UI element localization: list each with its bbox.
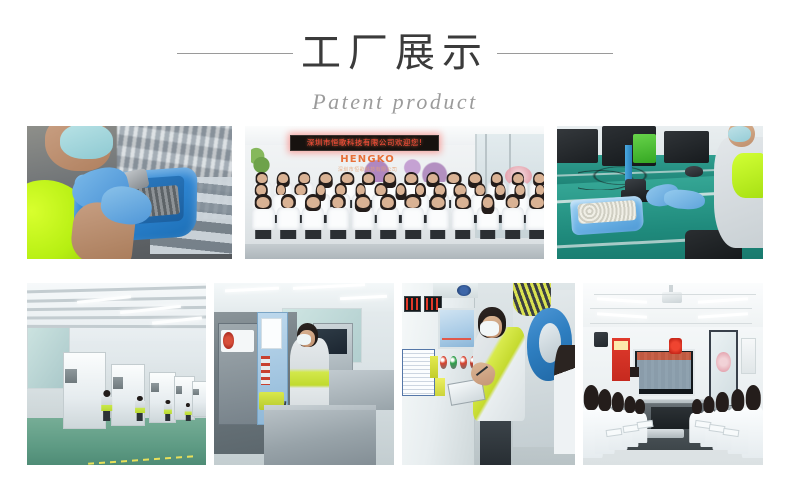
group-member: [301, 194, 325, 239]
attendee-head: [692, 399, 702, 414]
tray-contents: [577, 200, 636, 224]
photo-scene: [27, 283, 206, 465]
operator-mask: [297, 334, 311, 345]
member-head: [333, 197, 344, 208]
group-member: [326, 194, 350, 239]
indicator-lamp[interactable]: [450, 356, 457, 369]
ceiling-panel-edge: [594, 294, 756, 295]
ceiling-panel-edge: [590, 323, 752, 324]
member-head: [482, 197, 492, 208]
page-subtitle: Patent product: [0, 89, 790, 115]
member-head: [470, 174, 481, 182]
worker-trousers: [186, 415, 190, 422]
worker-uniform: [101, 397, 113, 412]
poster-headline: [614, 341, 628, 350]
engineer-mask: [480, 321, 499, 336]
worker-uniform: [163, 404, 171, 414]
photo-cnc-machining[interactable]: [214, 283, 394, 465]
member-head: [513, 174, 523, 182]
attendee-head: [716, 392, 728, 412]
member-head: [448, 174, 460, 182]
hmi-touchscreen: [438, 308, 476, 348]
notice-board: [741, 338, 755, 374]
line-worker: [134, 396, 145, 421]
panel-document: [261, 318, 283, 349]
ceiling-beam: [27, 325, 206, 328]
photo-process-recording[interactable]: [402, 283, 575, 465]
member-shirt: [501, 207, 523, 231]
group-member: [476, 194, 500, 239]
member-head: [507, 197, 518, 208]
machine-vent: [176, 386, 182, 394]
machine-logo-icon: [223, 332, 234, 348]
background-person: [554, 345, 575, 454]
gallery-row-2: [27, 283, 763, 465]
display-digits-1: [406, 298, 419, 310]
member-head: [357, 197, 370, 208]
engineer-legs: [480, 421, 511, 465]
member-head: [456, 197, 469, 208]
worker-head: [103, 390, 110, 397]
indicator-lamp[interactable]: [460, 356, 467, 369]
member-head: [406, 197, 419, 208]
group-member: [351, 194, 375, 239]
member-shirt: [452, 207, 474, 231]
operator-sleeve: [732, 153, 763, 198]
member-head: [382, 197, 394, 208]
indicator-lamp[interactable]: [440, 356, 447, 369]
group-member: [501, 194, 525, 239]
photo-packaging-inspection[interactable]: [27, 126, 232, 259]
member-head: [492, 174, 502, 182]
page-header: 工厂展示 Patent product: [0, 0, 790, 115]
line-worker: [100, 390, 113, 421]
digital-display-1: [404, 296, 421, 312]
title-rule-right: [497, 53, 613, 54]
attendee-head: [731, 389, 744, 411]
member-head: [431, 197, 444, 208]
member-shirt: [377, 207, 399, 231]
valve-handle: [457, 285, 471, 296]
processing-machine: [63, 352, 106, 428]
machine-vent: [65, 369, 78, 383]
member-shirt: [327, 207, 349, 231]
photo-company-group[interactable]: 深圳市恒歌科技有限公司欢迎您! HENGKO 深圳市恒歌科技有限公司: [245, 126, 544, 259]
member-head: [531, 197, 543, 208]
worker-uniform: [185, 407, 192, 416]
member-head: [385, 174, 396, 182]
worker-trousers: [136, 412, 143, 421]
group-member: [451, 194, 475, 239]
machine-vent: [113, 377, 123, 388]
group-member: [276, 194, 300, 239]
machine-vent: [151, 383, 159, 392]
hazard-label-2: [435, 378, 445, 396]
member-head: [283, 197, 294, 208]
attendee-head: [635, 399, 645, 414]
member-shirt: [402, 207, 424, 231]
table-cable-tray: [651, 407, 694, 429]
member-head: [307, 197, 320, 208]
door-decal: [716, 352, 730, 372]
photo-scene: [27, 126, 232, 259]
photo-scene: [214, 283, 394, 465]
notebook: [723, 428, 740, 437]
member-head: [257, 197, 270, 208]
gallery-row-1: 深圳市恒歌科技有限公司欢迎您! HENGKO 深圳市恒歌科技有限公司: [27, 126, 763, 259]
worker-trousers: [103, 410, 111, 421]
member-shirt: [277, 207, 299, 231]
title-row: 工厂展示: [0, 26, 790, 80]
ceiling-panel-edge: [590, 308, 752, 309]
worker-head: [137, 396, 143, 402]
factory-showcase-page: 工厂展示 Patent product: [0, 0, 790, 493]
group-member: [252, 194, 276, 239]
photo-production-line[interactable]: [27, 283, 206, 465]
wall-badge: [669, 338, 682, 354]
employee-group: [245, 150, 544, 248]
hazard-label-1: [430, 356, 439, 378]
member-shirt: [252, 207, 274, 231]
processing-machine: [192, 381, 206, 417]
photo-scene: 深圳市恒歌科技有限公司欢迎您! HENGKO 深圳市恒歌科技有限公司: [245, 126, 544, 259]
operator-mask: [728, 126, 751, 142]
member-shirt: [427, 207, 449, 231]
keyboard: [644, 429, 684, 438]
page-title: 工厂展示: [299, 30, 491, 76]
metal-crate: [264, 410, 376, 465]
member-shirt: [526, 207, 544, 231]
worker-trousers: [165, 413, 171, 421]
photo-meeting-room[interactable]: [583, 283, 763, 465]
led-banner-text: 深圳市恒歌科技有限公司欢迎您!: [307, 139, 423, 147]
display-content: [637, 352, 691, 388]
monitor-1: [557, 129, 598, 164]
group-member: [376, 194, 400, 239]
line-worker: [185, 403, 192, 421]
photo-scene: [583, 283, 763, 465]
photo-scene: [402, 283, 575, 465]
microscope-camera: [633, 134, 656, 163]
computer-mouse: [685, 166, 704, 177]
hmi-status-bar: [442, 338, 471, 340]
image-gallery: 深圳市恒歌科技有限公司欢迎您! HENGKO 深圳市恒歌科技有限公司: [27, 126, 763, 465]
worker-head: [165, 400, 170, 405]
group-member: [401, 194, 425, 239]
group-member: [426, 194, 450, 239]
panel-buttons: [261, 356, 270, 385]
line-worker: [163, 400, 172, 422]
monitor-3: [664, 131, 709, 163]
photo-microscope-inspection[interactable]: [557, 126, 763, 259]
group-member: [526, 194, 544, 239]
worker-uniform: [135, 401, 145, 413]
led-welcome-banner: 深圳市恒歌科技有限公司欢迎您!: [290, 135, 440, 151]
photo-scene: [557, 126, 763, 259]
presenter: [630, 367, 639, 396]
machine-vent: [193, 389, 198, 396]
face-mask: [60, 126, 113, 159]
title-rule-left: [177, 53, 293, 54]
wall-speaker: [594, 332, 608, 347]
